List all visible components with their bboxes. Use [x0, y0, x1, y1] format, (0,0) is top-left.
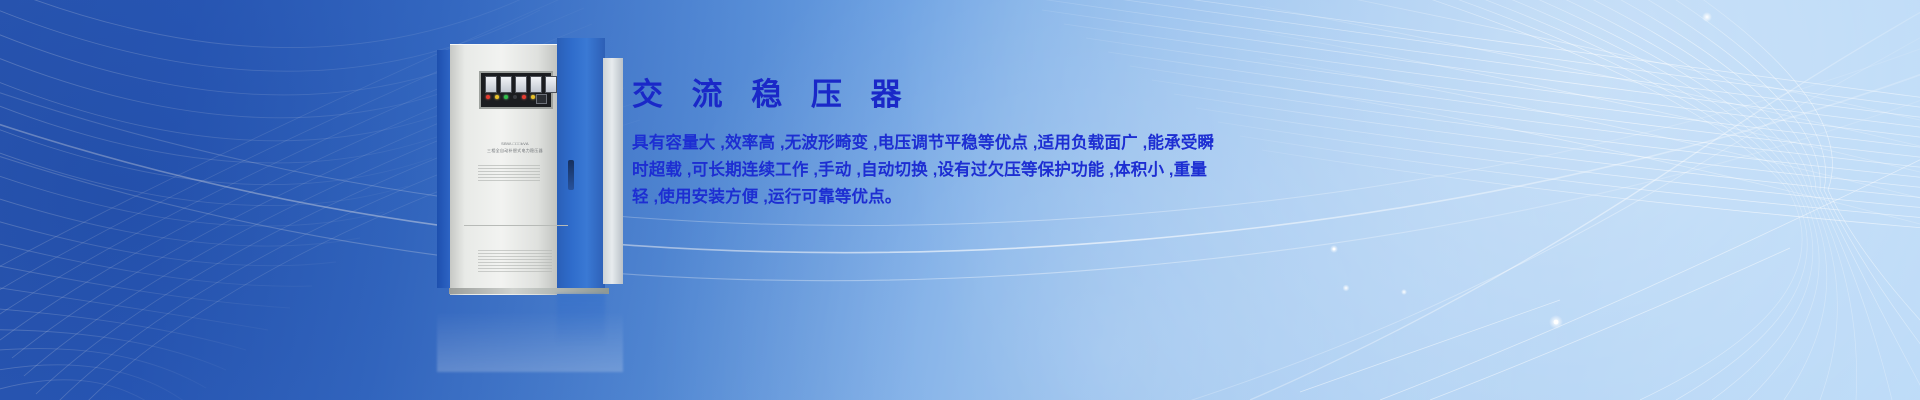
cabinet-blue-side-panel — [557, 38, 605, 290]
indicator-lamp-yellow — [531, 95, 535, 99]
meter-gauge — [485, 76, 497, 93]
product-banner: SBW-□□□kVA 三相全自动补偿式电力稳压器 交 流 稳 压 器 具有容量大… — [0, 0, 1920, 400]
description-line: 轻 ,使用安装方便 ,运行可靠等优点。 — [632, 184, 1152, 211]
banner-title: 交 流 稳 压 器 — [632, 78, 1172, 112]
description-line: 时超载 ,可长期连续工作 ,手动 ,自动切换 ,设有过欠压等保护功能 ,体积小 … — [632, 157, 1152, 184]
cabinet-left-edge — [437, 50, 451, 288]
indicator-lamp-red — [486, 95, 490, 99]
product-image-voltage-stabilizer: SBW-□□□kVA 三相全自动补偿式电力稳压器 — [437, 36, 623, 294]
product-model-code: SBW-□□□kVA — [480, 140, 550, 147]
cabinet-door-handle — [568, 160, 574, 190]
cabinet-seam — [464, 225, 568, 226]
meter-gauge — [530, 76, 542, 93]
banner-description: 具有容量大 ,效率高 ,无波形畸变 ,电压调节平稳等优点 ,适用负载面广 ,能承… — [632, 130, 1152, 211]
indicator-lamp-green — [504, 95, 508, 99]
description-line: 具有容量大 ,效率高 ,无波形畸变 ,电压调节平稳等优点 ,适用负载面广 ,能承… — [632, 130, 1152, 157]
indicator-lamp-red — [522, 95, 526, 99]
meter-gauge — [500, 76, 512, 93]
panel-switch — [536, 94, 547, 104]
sparkle-group — [1330, 12, 1712, 329]
meter-gauge — [545, 76, 557, 93]
indicator-lamp-yellow — [495, 95, 499, 99]
banner-copy-block: 交 流 稳 压 器 具有容量大 ,效率高 ,无波形畸变 ,电压调节平稳等优点 ,… — [632, 78, 1172, 211]
product-reflection-blue — [557, 294, 605, 354]
product-model-label: SBW-□□□kVA 三相全自动补偿式电力稳压器 — [480, 140, 550, 154]
cabinet-far-panel — [603, 58, 623, 284]
indicator-lamp-off — [513, 95, 517, 99]
meter-gauges — [485, 76, 557, 93]
cabinet-vent-lower — [478, 250, 552, 272]
cabinet-front-door: SBW-□□□kVA 三相全自动补偿式电力稳压器 — [450, 44, 557, 295]
indicator-lamps — [486, 95, 535, 99]
control-panel — [479, 71, 553, 109]
cabinet-vent-upper — [478, 165, 540, 181]
product-model-subtitle: 三相全自动补偿式电力稳压器 — [480, 147, 550, 154]
meter-gauge — [515, 76, 527, 93]
